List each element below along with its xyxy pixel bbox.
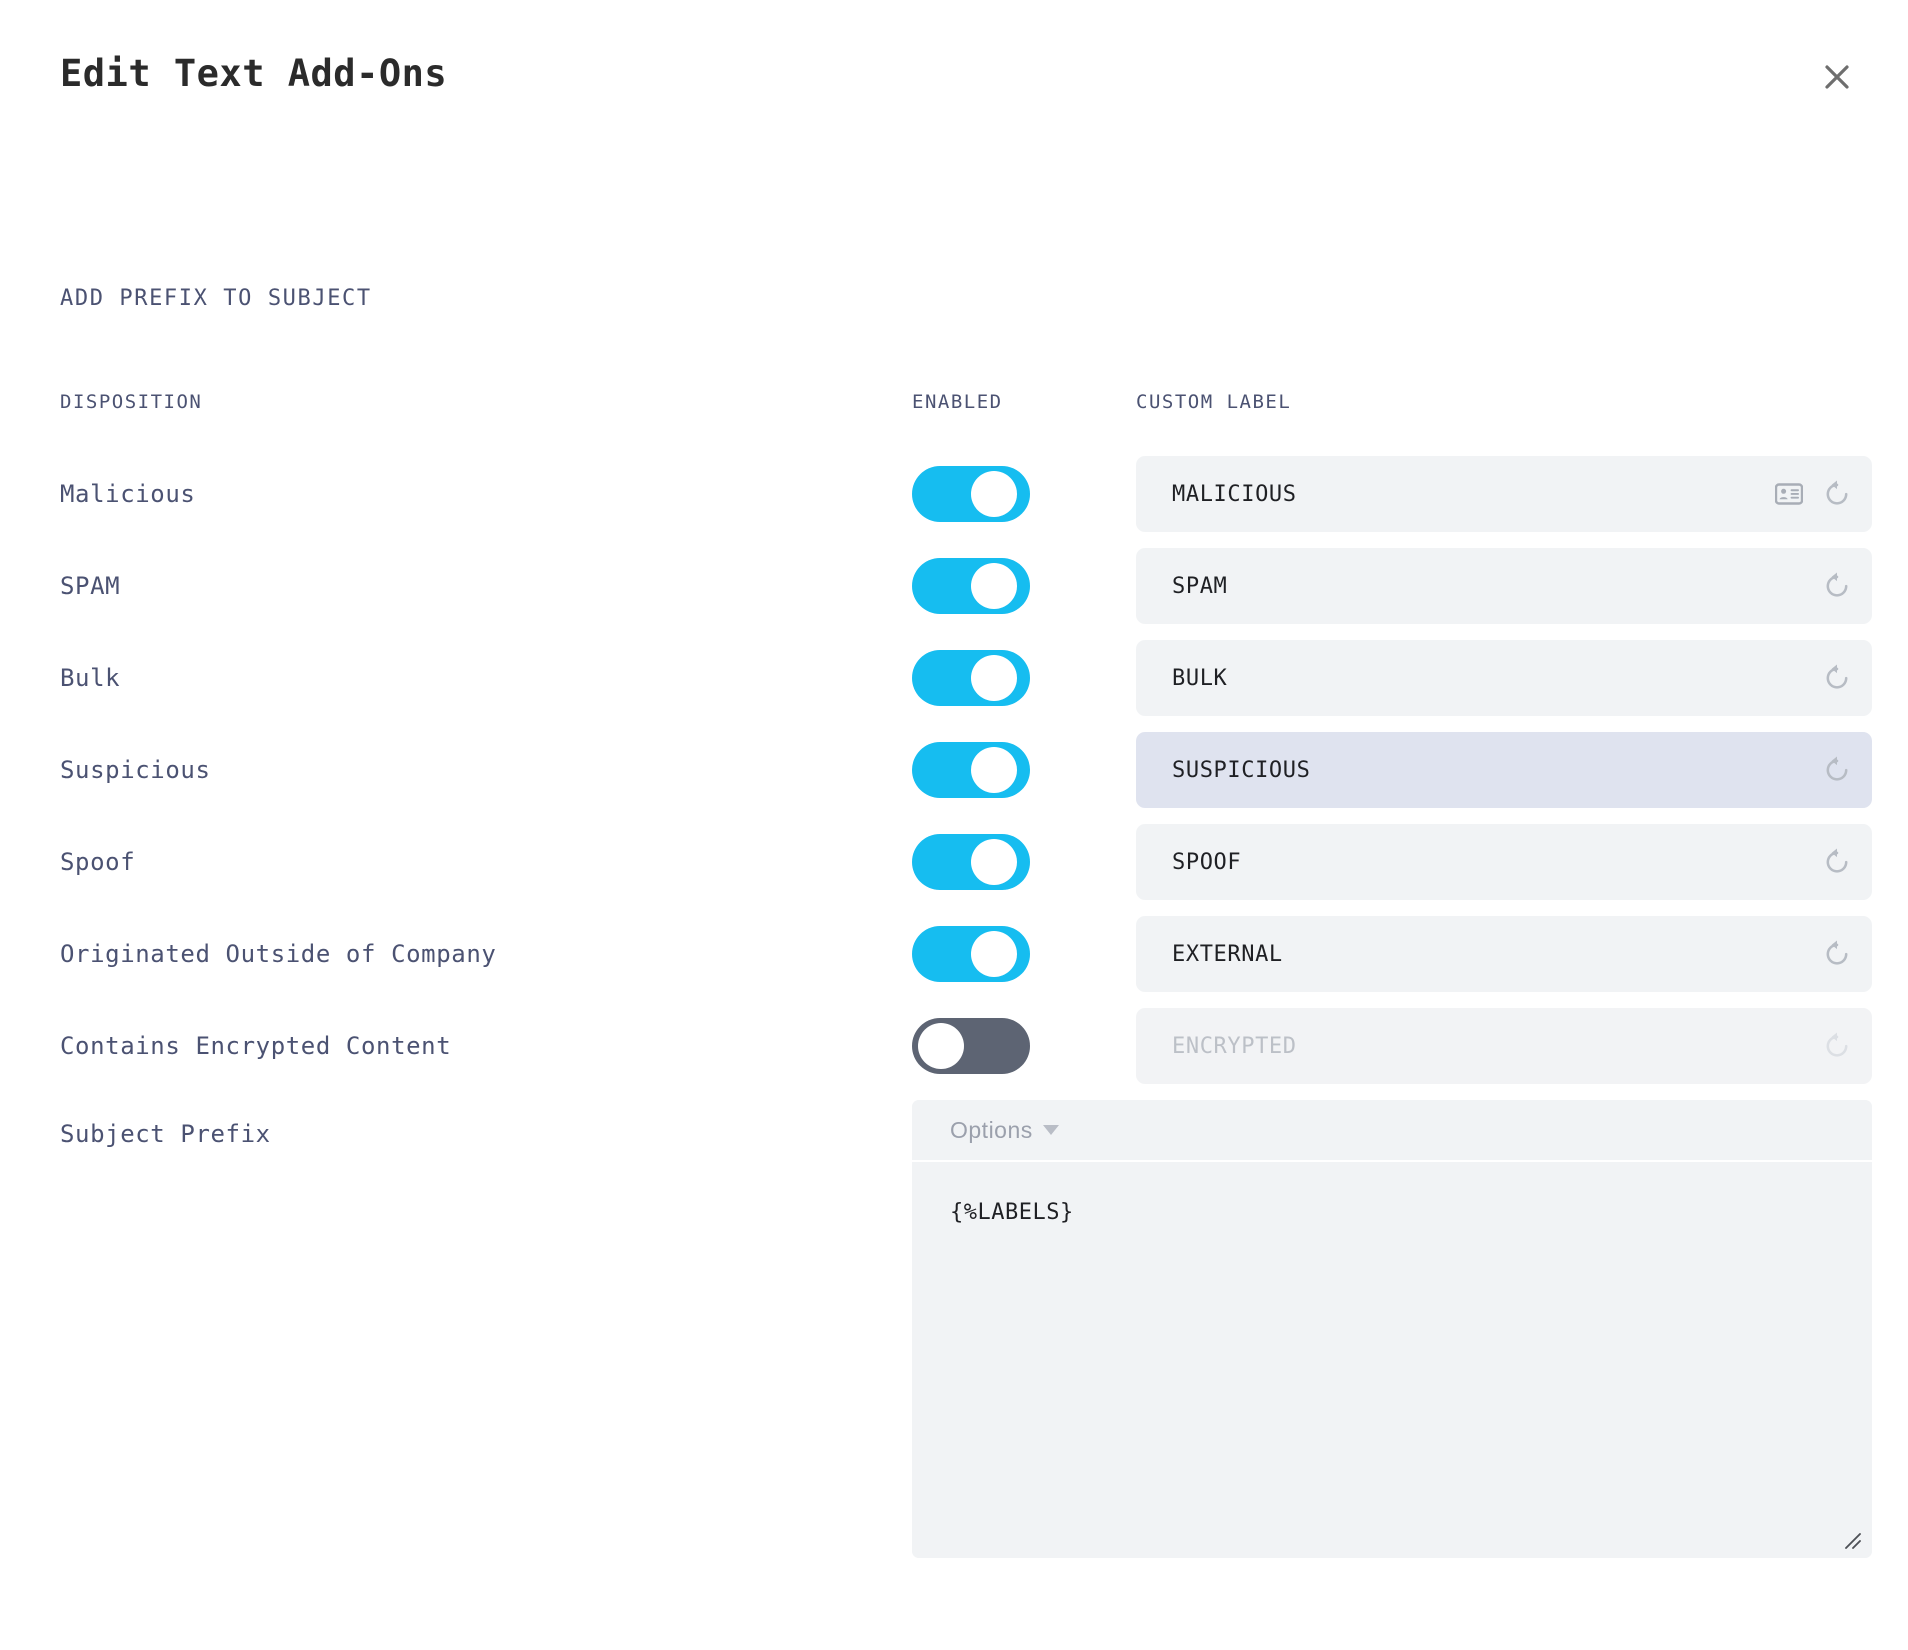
reset-icon[interactable] <box>1820 845 1854 879</box>
table-row: BulkBULK <box>0 632 1908 724</box>
custom-label-value: EXTERNAL <box>1172 942 1820 967</box>
row-toggle-cell <box>912 724 1030 816</box>
resize-grip-icon[interactable] <box>1840 1528 1862 1550</box>
row-disposition-label: SPAM <box>60 540 120 632</box>
field-icon-group <box>1772 477 1854 511</box>
close-button[interactable] <box>1814 54 1860 100</box>
enabled-toggle[interactable] <box>912 650 1030 706</box>
options-dropdown-label: Options <box>950 1117 1033 1144</box>
section-heading: ADD PREFIX TO SUBJECT <box>60 286 372 312</box>
custom-label-value: BULK <box>1172 666 1820 691</box>
toggle-knob <box>971 655 1017 701</box>
field-icon-group <box>1820 1029 1854 1063</box>
custom-label-input: ENCRYPTED <box>1136 1008 1872 1084</box>
row-toggle-cell <box>912 816 1030 908</box>
enabled-toggle[interactable] <box>912 558 1030 614</box>
enabled-toggle[interactable] <box>912 834 1030 890</box>
table-row: MaliciousMALICIOUS <box>0 448 1908 540</box>
row-toggle-cell <box>912 908 1030 1000</box>
row-toggle-cell <box>912 632 1030 724</box>
enabled-toggle[interactable] <box>912 466 1030 522</box>
custom-label-input[interactable]: EXTERNAL <box>1136 916 1872 992</box>
disposition-rows: MaliciousMALICIOUSSPAMSPAMBulkBULKSuspic… <box>0 448 1908 1092</box>
toggle-knob <box>918 1023 964 1069</box>
row-disposition-label: Suspicious <box>60 724 211 816</box>
close-icon <box>1822 62 1852 92</box>
column-header-disposition: DISPOSITION <box>60 390 202 414</box>
subject-prefix-value: {%LABELS} <box>950 1200 1872 1225</box>
reset-icon[interactable] <box>1820 661 1854 695</box>
field-icon-group <box>1820 661 1854 695</box>
modal-header: Edit Text Add-Ons <box>60 52 1860 112</box>
row-disposition-label: Spoof <box>60 816 135 908</box>
table-row: SPAMSPAM <box>0 540 1908 632</box>
reset-icon[interactable] <box>1820 753 1854 787</box>
custom-label-input[interactable]: BULK <box>1136 640 1872 716</box>
contact-card-icon[interactable] <box>1772 477 1806 511</box>
reset-icon[interactable] <box>1820 937 1854 971</box>
toggle-knob <box>971 471 1017 517</box>
enabled-toggle[interactable] <box>912 1018 1030 1074</box>
custom-label-input[interactable]: MALICIOUS <box>1136 456 1872 532</box>
row-disposition-label: Malicious <box>60 448 195 540</box>
toggle-knob <box>971 839 1017 885</box>
toggle-knob <box>971 563 1017 609</box>
field-icon-group <box>1820 937 1854 971</box>
column-header-enabled: ENABLED <box>912 390 1003 414</box>
custom-label-input[interactable]: SPAM <box>1136 548 1872 624</box>
custom-label-value: MALICIOUS <box>1172 482 1772 507</box>
table-row: SuspiciousSUSPICIOUS <box>0 724 1908 816</box>
custom-label-value: SPAM <box>1172 574 1820 599</box>
reset-icon[interactable] <box>1820 569 1854 603</box>
chevron-down-icon <box>1043 1125 1059 1135</box>
row-disposition-label: Contains Encrypted Content <box>60 1000 451 1092</box>
field-icon-group <box>1820 569 1854 603</box>
row-disposition-label: Originated Outside of Company <box>60 908 496 1000</box>
options-dropdown[interactable]: Options <box>950 1117 1059 1144</box>
custom-label-input[interactable]: SPOOF <box>1136 824 1872 900</box>
row-toggle-cell <box>912 1000 1030 1092</box>
custom-label-value: SPOOF <box>1172 850 1820 875</box>
page-title: Edit Text Add-Ons <box>60 52 1860 96</box>
row-toggle-cell <box>912 540 1030 632</box>
editor-toolbar: Options <box>912 1100 1872 1162</box>
edit-text-addons-modal: Edit Text Add-Ons ADD PREFIX TO SUBJECT … <box>0 0 1908 1650</box>
field-icon-group <box>1820 845 1854 879</box>
toggle-knob <box>971 747 1017 793</box>
reset-icon[interactable] <box>1820 477 1854 511</box>
enabled-toggle[interactable] <box>912 926 1030 982</box>
custom-label-value: SUSPICIOUS <box>1172 758 1820 783</box>
custom-label-value: ENCRYPTED <box>1172 1034 1820 1059</box>
row-disposition-label: Bulk <box>60 632 120 724</box>
table-row: Contains Encrypted ContentENCRYPTED <box>0 1000 1908 1092</box>
toggle-knob <box>971 931 1017 977</box>
column-header-custom-label: CUSTOM LABEL <box>1136 390 1291 414</box>
subject-prefix-editor: Options {%LABELS} <box>912 1100 1872 1558</box>
field-icon-group <box>1820 753 1854 787</box>
subject-prefix-label: Subject Prefix <box>60 1120 271 1148</box>
table-row: SpoofSPOOF <box>0 816 1908 908</box>
enabled-toggle[interactable] <box>912 742 1030 798</box>
subject-prefix-textarea[interactable]: {%LABELS} <box>912 1162 1872 1558</box>
custom-label-input[interactable]: SUSPICIOUS <box>1136 732 1872 808</box>
reset-icon <box>1820 1029 1854 1063</box>
table-row: Originated Outside of CompanyEXTERNAL <box>0 908 1908 1000</box>
row-toggle-cell <box>912 448 1030 540</box>
